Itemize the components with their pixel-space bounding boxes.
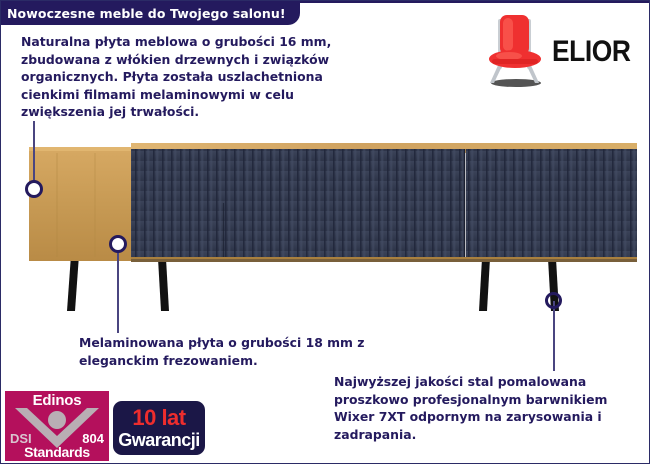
leader-line-2 <box>117 249 119 333</box>
brand-logo: ELIOR <box>482 15 641 89</box>
leader-line-1 <box>33 121 35 183</box>
callout-marker-2 <box>109 235 127 253</box>
callout-text-board-18mm: Melaminowana płyta o grubości 18 mm z el… <box>79 334 399 369</box>
callout-text-board-16mm: Naturalna płyta meblowa o grubości 16 mm… <box>21 33 371 121</box>
leader-line-3 <box>553 301 555 371</box>
tv-cabinet-illustration <box>9 141 643 316</box>
brand-name: ELIOR <box>552 37 630 67</box>
header-banner: Nowoczesne meble do Twojego salonu! <box>0 1 300 25</box>
edinos-badge: Edinos DSI 804 Standards <box>5 391 109 461</box>
certification-badges: Edinos DSI 804 Standards 10 lat Gwarancj… <box>5 391 205 461</box>
callout-marker-1 <box>25 180 43 198</box>
promo-image: Nowoczesne meble do Twojego salonu! ELIO… <box>0 0 650 464</box>
edinos-subtitle: Standards <box>5 444 109 460</box>
warranty-years: 10 lat <box>132 407 185 429</box>
warranty-badge: 10 lat Gwarancji <box>113 401 205 455</box>
cabinet-front-center <box>224 203 464 261</box>
banner-title: Nowoczesne meble do Twojego salonu! <box>7 6 286 21</box>
red-chair-icon <box>482 15 548 89</box>
callout-text-steel: Najwyższej jakości stal pomalowana prosz… <box>334 373 634 443</box>
cabinet-front-right <box>466 149 637 261</box>
callout-marker-3 <box>545 292 562 309</box>
warranty-label: Gwarancji <box>118 431 200 449</box>
